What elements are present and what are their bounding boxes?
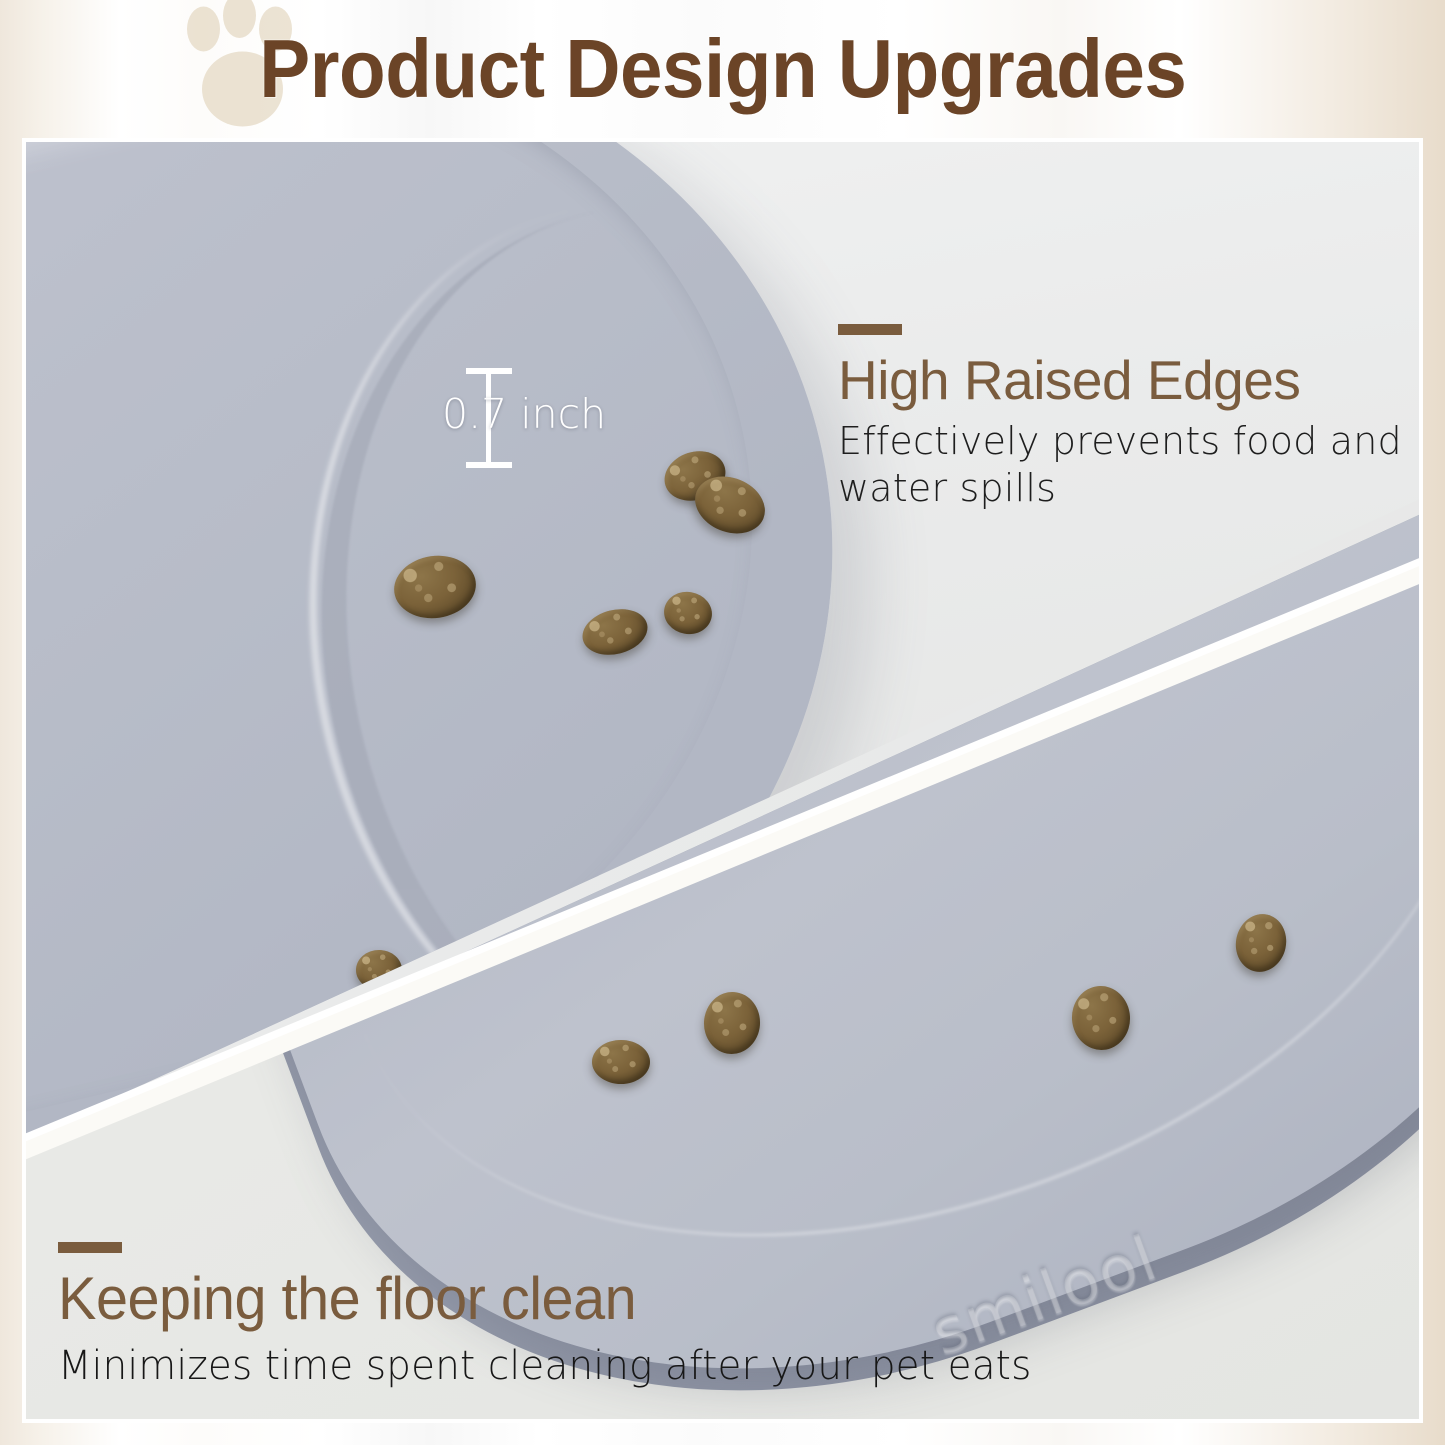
feature-top-heading: High Raised Edges: [838, 351, 1419, 410]
dimension-cap-bottom: [466, 462, 512, 468]
page-title-text: Product Design Upgrades: [259, 21, 1186, 117]
dimension-label: 0.7 inch: [442, 390, 606, 438]
infographic-page: Product Design Upgrades smilool: [0, 0, 1445, 1445]
product-photo-frame: smilool 0.7 inch High Raised Edges Effec…: [22, 138, 1423, 1423]
accent-dash-top: [838, 324, 902, 335]
feature-block-bottom: Keeping the floor clean Minimizes time s…: [58, 1242, 1178, 1389]
feature-bottom-subtext: Minimizes time spent cleaning after your…: [58, 1343, 1144, 1389]
product-photo: smilool 0.7 inch High Raised Edges Effec…: [26, 142, 1419, 1419]
feature-block-top: High Raised Edges Effectively prevents f…: [838, 324, 1419, 511]
dimension-callout: 0.7 inch: [442, 364, 612, 474]
feature-bottom-heading: Keeping the floor clean: [58, 1267, 1133, 1331]
kibble-piece: [356, 950, 402, 990]
page-title: Product Design Upgrades: [0, 0, 1445, 138]
feature-top-subtext: Effectively prevents food and water spil…: [838, 418, 1413, 511]
header-banner: Product Design Upgrades: [0, 0, 1445, 138]
kibble-piece: [592, 1040, 650, 1084]
accent-dash-bottom: [58, 1242, 122, 1253]
